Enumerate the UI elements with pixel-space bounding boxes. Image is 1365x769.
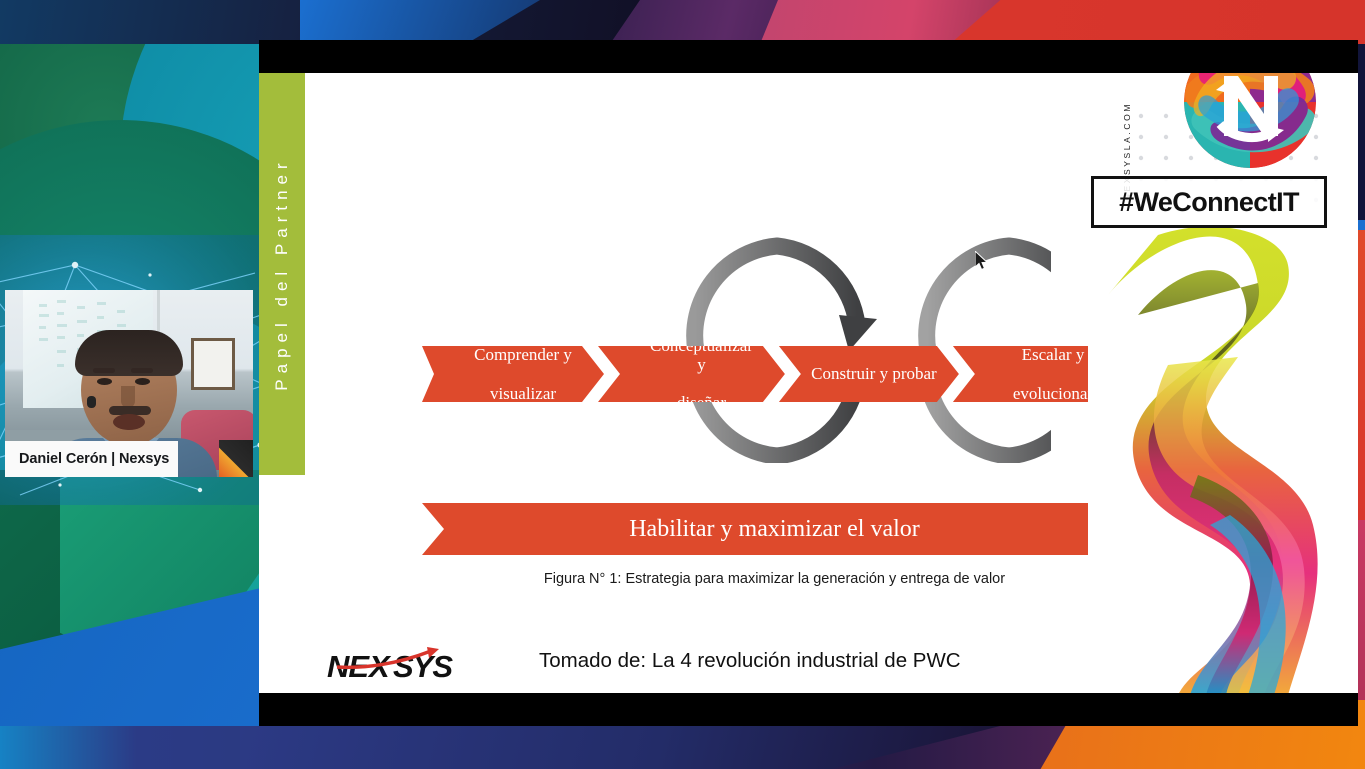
source-note: Tomado de: La 4 revolución industrial de… xyxy=(539,649,961,673)
value-bar[interactable]: Habilitar y maximizar el valor xyxy=(422,503,1127,555)
shared-slide[interactable]: Papel del Partner xyxy=(259,40,1358,726)
shelf-object xyxy=(219,440,253,477)
process-step-2[interactable]: Conceptualizar y diseñar xyxy=(598,346,785,402)
process-steps-row: Comprender y visualizar Conceptualizar y… xyxy=(422,346,1127,402)
nexsys-logo: NE X SYS xyxy=(327,645,497,687)
process-diagram: Comprender y visualizar Conceptualizar y… xyxy=(305,73,1088,693)
process-step-1[interactable]: Comprender y visualizar xyxy=(422,346,604,402)
value-bar-label: Habilitar y maximizar el valor xyxy=(629,516,920,543)
color-ribbon-graphic xyxy=(1098,225,1338,693)
slide-page: Papel del Partner xyxy=(259,73,1358,693)
slide-side-tab: Papel del Partner xyxy=(259,73,305,475)
process-step-3-line1: Construir y probar xyxy=(785,364,953,383)
hashtag-badge: #WeConnectIT xyxy=(1091,176,1327,228)
participant-name-label: Daniel Cerón | Nexsys xyxy=(5,441,178,477)
participant-name-text: Daniel Cerón | Nexsys xyxy=(5,451,169,467)
process-step-3[interactable]: Construir y probar xyxy=(779,346,959,402)
brand-column: NEXSYSLA.COM xyxy=(1088,73,1358,693)
nexsys-n-logo-icon xyxy=(1180,73,1320,172)
bg-band-top-red xyxy=(950,0,1365,44)
side-tab-label: Papel del Partner xyxy=(272,157,292,390)
figure-caption: Figura N° 1: Estrategia para maximizar l… xyxy=(422,571,1127,587)
process-step-1-line2: visualizar xyxy=(448,384,588,403)
hashtag-text: #WeConnectIT xyxy=(1119,187,1299,218)
process-step-1-line1: Comprender y xyxy=(448,345,588,364)
